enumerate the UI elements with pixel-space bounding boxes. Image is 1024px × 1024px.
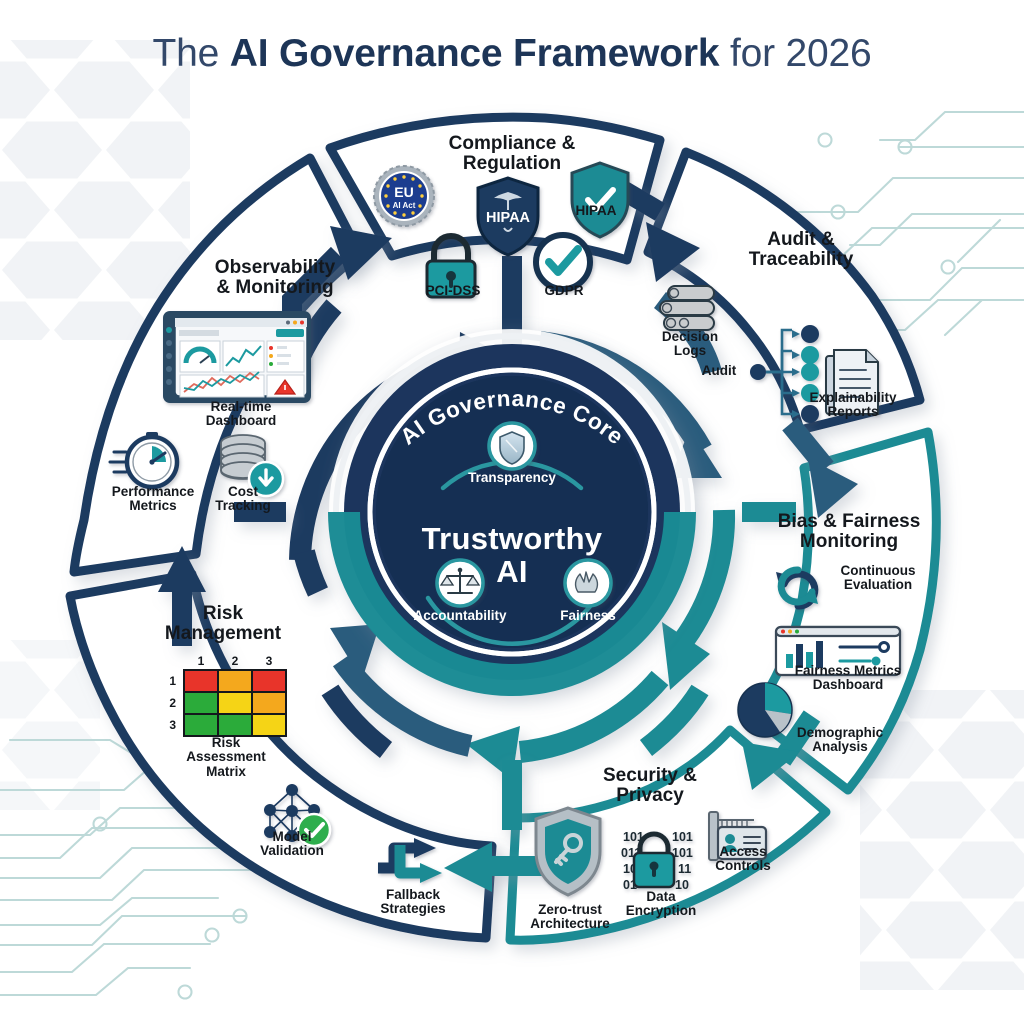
risk-matrix-icon: 123123 [169, 654, 286, 736]
eu-ai-act-badge-icon: EU AI Act [374, 166, 434, 226]
check-shield-icon [572, 163, 628, 237]
infographic-canvas: AI Governance Core [0, 0, 1024, 1024]
svg-text:11: 11 [678, 862, 691, 876]
svg-text:3: 3 [169, 718, 176, 732]
svg-text:10: 10 [675, 878, 689, 892]
svg-text:EU: EU [394, 184, 413, 200]
transparency-shield-icon [489, 423, 535, 469]
hipaa-shield-icon: HIPAA [478, 178, 538, 255]
refresh-loop-icon [776, 570, 818, 606]
icons-layer: EU AI Act HIPAA [0, 0, 1024, 1024]
padlock-icon [427, 236, 475, 297]
dashboard-window-icon [163, 311, 311, 403]
pie-chart-icon [738, 683, 792, 737]
svg-text:1: 1 [169, 674, 176, 688]
svg-text:101: 101 [672, 830, 693, 844]
svg-text:2: 2 [169, 696, 176, 710]
documents-icon [826, 350, 878, 414]
svg-text:3: 3 [266, 654, 273, 668]
loop-arrow-icon [378, 838, 442, 883]
neural-net-check-icon [264, 784, 330, 846]
bar-chart-dashboard-icon [776, 627, 900, 675]
coins-down-icon [221, 435, 283, 496]
accountability-scales-icon [437, 560, 483, 606]
fairness-hands-icon [565, 560, 611, 606]
svg-text:1: 1 [198, 654, 205, 668]
check-circle-icon [536, 235, 590, 289]
binary-lock-icon: 101101 011101 1011 0110 [621, 830, 693, 892]
svg-text:AI Act: AI Act [393, 201, 416, 210]
audit-trail-icon [750, 325, 819, 423]
logs-stack-icon [660, 286, 714, 330]
svg-text:2: 2 [232, 654, 239, 668]
svg-text:HIPAA: HIPAA [486, 210, 531, 226]
stopwatch-icon [110, 432, 177, 487]
shield-key-icon [536, 808, 600, 895]
id-badge-icon [709, 812, 766, 860]
